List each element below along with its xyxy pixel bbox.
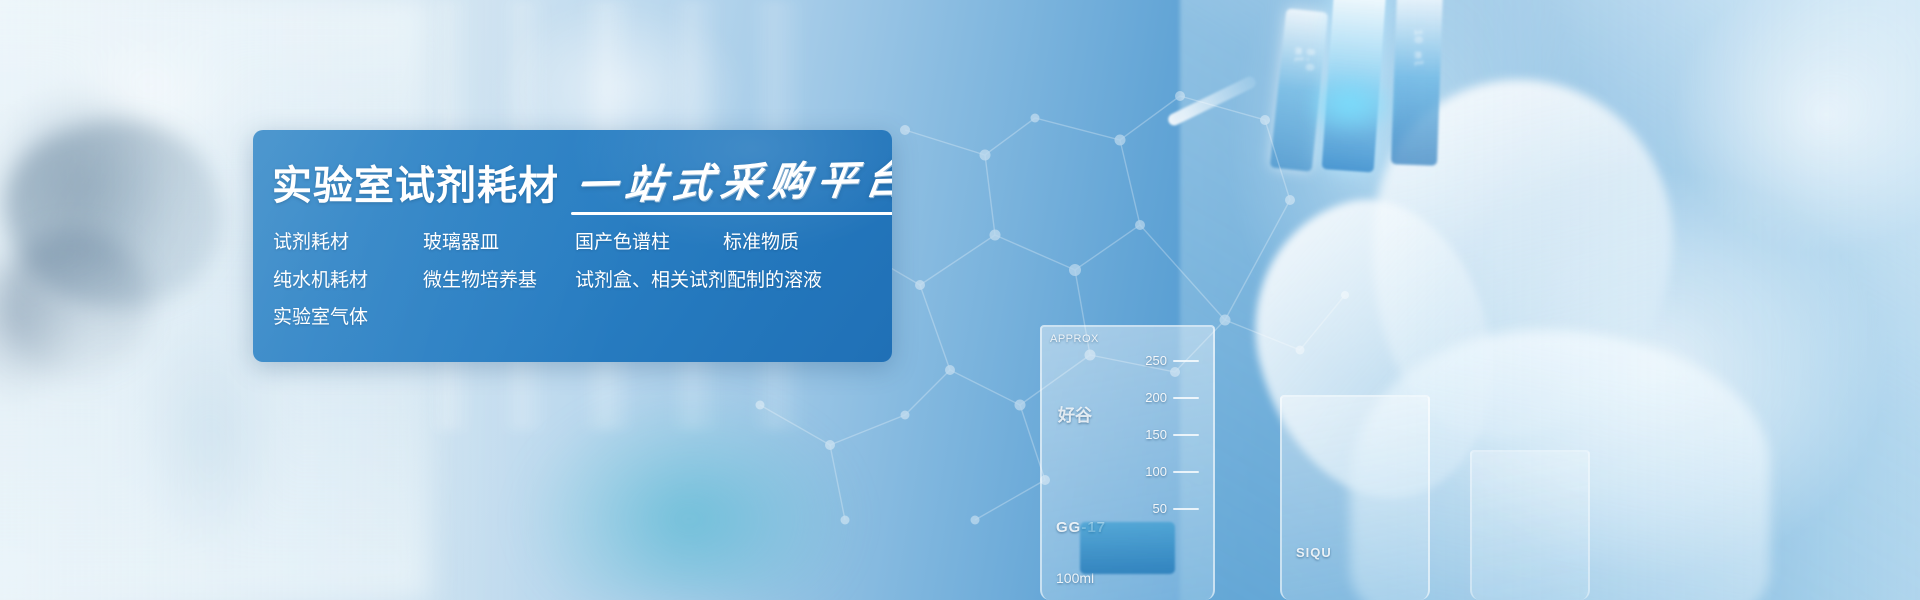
category-item-laboratory-gas[interactable]: 实验室气体	[273, 305, 423, 331]
category-item-water-purifier-consumables[interactable]: 纯水机耗材	[273, 268, 423, 294]
headline-underline-rule	[571, 212, 892, 215]
headline-brush-text: 一站式采购平台	[574, 159, 892, 206]
category-item-microbial-culture-medium[interactable]: 微生物培养基	[423, 268, 575, 294]
category-row: 纯水机耗材 微生物培养基 试剂盒、相关试剂配制的溶液	[273, 268, 873, 294]
category-list: 试剂耗材 玻璃器皿 国产色谱柱 标准物质 纯水机耗材 微生物培养基 试剂盒、相关…	[273, 230, 873, 343]
category-row: 实验室气体	[273, 305, 873, 331]
headline: 实验室试剂耗材 一站式采购平台	[272, 163, 892, 206]
category-item-reagent-consumables[interactable]: 试剂耗材	[273, 230, 423, 256]
category-item-reagent-kits-solutions[interactable]: 试剂盒、相关试剂配制的溶液	[575, 268, 822, 294]
banner-root: 8.0 ml 10 ml APPROX 好谷 GG-17 100ml 250 2…	[0, 0, 1920, 600]
category-row: 试剂耗材 玻璃器皿 国产色谱柱 标准物质	[273, 230, 873, 256]
promo-card: 实验室试剂耗材 一站式采购平台 试剂耗材 玻璃器皿 国产色谱柱 标准物质 纯水机…	[253, 130, 892, 362]
category-item-domestic-chromatography-column[interactable]: 国产色谱柱	[575, 230, 670, 256]
headline-main-text: 实验室试剂耗材	[272, 166, 559, 206]
category-item-reference-material[interactable]: 标准物质	[723, 230, 799, 256]
category-item-glassware[interactable]: 玻璃器皿	[423, 230, 575, 256]
headline-brush-wrapper: 一站式采购平台	[577, 163, 892, 206]
